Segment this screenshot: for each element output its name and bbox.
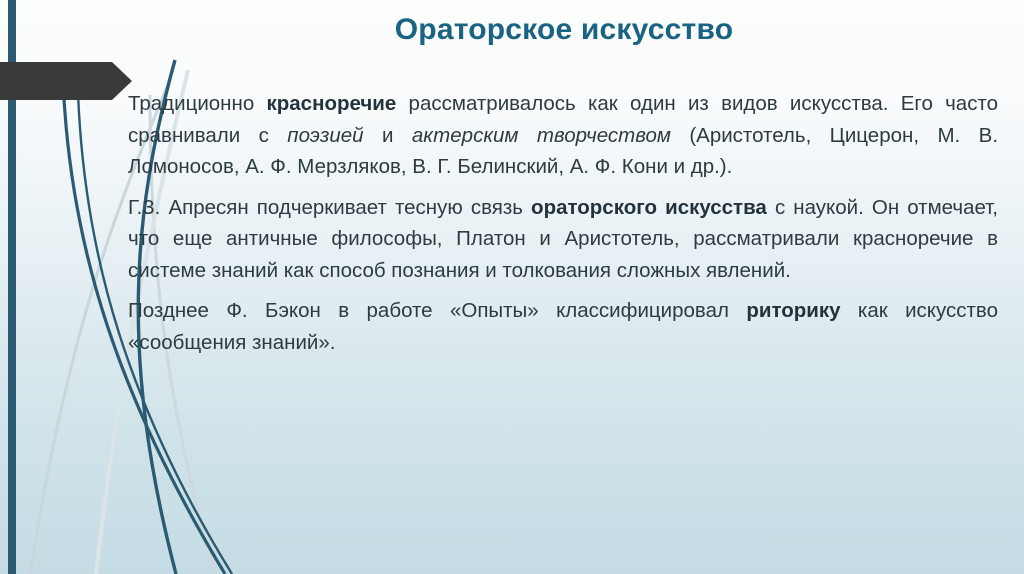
arrow-polygon bbox=[0, 62, 132, 100]
text-run: Традиционно bbox=[128, 92, 266, 115]
arrow-banner-shape bbox=[0, 62, 132, 100]
paragraph-2: Г.З. Апресян подчеркивает тесную связь о… bbox=[128, 192, 998, 287]
page-title: Ораторское искусство bbox=[130, 12, 998, 48]
text-run: и bbox=[364, 124, 412, 147]
emphasis-bold: риторику bbox=[746, 299, 840, 322]
emphasis-italic: поэзией bbox=[287, 124, 363, 147]
emphasis-bold: ораторского искусства bbox=[531, 196, 767, 219]
paragraph-1: Традиционно красноречие рассматривалось … bbox=[128, 88, 998, 183]
text-run: Г.З. Апресян подчеркивает тесную связь bbox=[128, 196, 531, 219]
text-run: Позднее Ф. Бэкон в работе «Опыты» класси… bbox=[128, 299, 746, 322]
slide-body: Традиционно красноречие рассматривалось … bbox=[128, 88, 998, 358]
emphasis-bold: красноречие bbox=[266, 92, 396, 115]
presentation-slide: Ораторское искусство Традиционно краснор… bbox=[0, 0, 1024, 574]
emphasis-italic: актерским творчеством bbox=[412, 124, 671, 147]
paragraph-3: Позднее Ф. Бэкон в работе «Опыты» класси… bbox=[128, 295, 998, 358]
